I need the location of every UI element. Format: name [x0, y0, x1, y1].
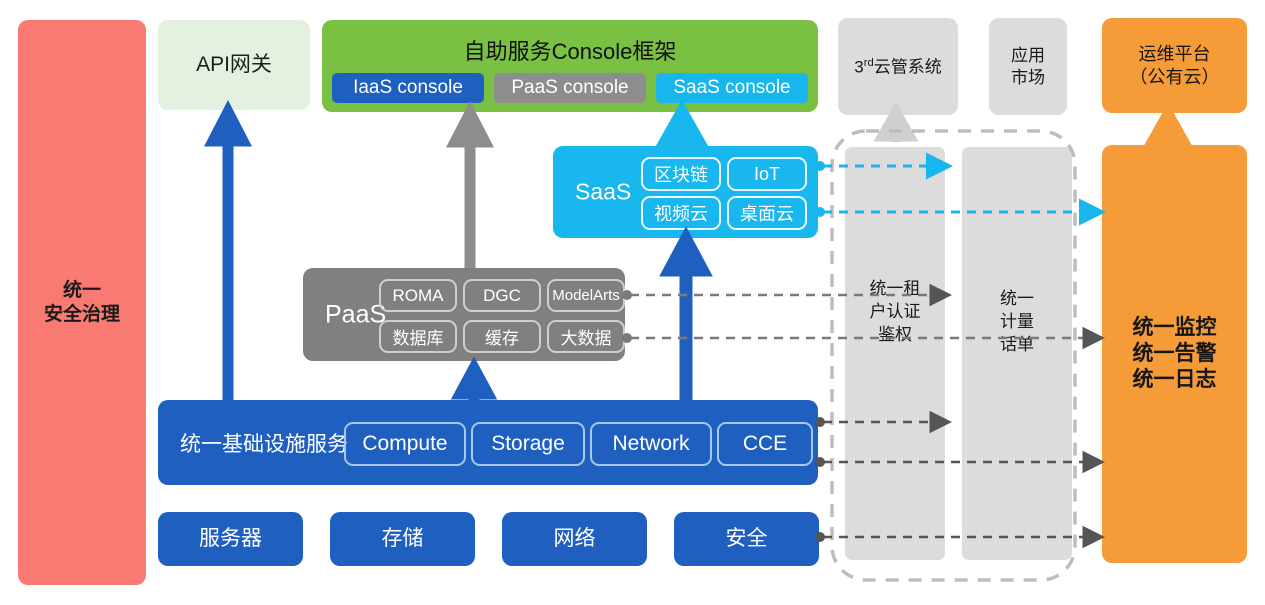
saas-layer-label: SaaS: [575, 179, 631, 206]
hardware-tile-server[interactable]: 服务器: [158, 512, 303, 566]
saas-item-blockchain[interactable]: 区块链: [641, 157, 721, 191]
hardware-tile-label: 网络: [554, 526, 596, 552]
arrow-into-ops-platform: [1154, 115, 1182, 145]
saas-item-label: IoT: [754, 164, 780, 185]
infra-item-storage[interactable]: Storage: [471, 422, 585, 466]
infra-item-network[interactable]: Network: [590, 422, 712, 466]
saas-layer: SaaS 区块链 IoT 视频云 桌面云: [553, 146, 818, 238]
hardware-tile-label: 安全: [726, 526, 768, 552]
paas-item-label: 大数据: [561, 324, 612, 349]
hardware-tile-storage[interactable]: 存储: [330, 512, 475, 566]
hardware-tile-label: 存储: [382, 526, 424, 552]
paas-layer: PaaS ROMA DGC ModelArts 数据库 缓存 大数据: [303, 268, 625, 361]
paas-item-label: 数据库: [393, 324, 444, 349]
infra-item-label: CCE: [743, 432, 787, 456]
third-party-cloud-mgmt-label: 3rd云管系统: [854, 56, 941, 78]
saas-item-label: 区块链: [654, 161, 708, 187]
saas-item-label: 视频云: [654, 200, 708, 226]
shared-service-column-auth: [845, 147, 945, 560]
paas-console-chip[interactable]: PaaS console: [494, 73, 646, 103]
saas-item-label: 桌面云: [740, 200, 794, 226]
ops-capabilities-box: 统一监控 统一告警 统一日志: [1102, 145, 1247, 563]
iaas-console-label: IaaS console: [353, 77, 463, 99]
console-frame: 自助服务Console框架 IaaS console PaaS console …: [322, 20, 818, 112]
paas-item-modelarts[interactable]: ModelArts: [547, 279, 625, 312]
paas-item-roma[interactable]: ROMA: [379, 279, 457, 312]
infra-item-compute[interactable]: Compute: [344, 422, 466, 466]
ops-capabilities-label: 统一监控 统一告警 统一日志: [1133, 315, 1217, 394]
console-frame-title: 自助服务Console框架: [322, 34, 818, 66]
infrastructure-layer-label: 统一基础设施服务: [180, 428, 348, 458]
infrastructure-layer: 统一基础设施服务 Compute Storage Network CCE: [158, 400, 818, 485]
iaas-console-chip[interactable]: IaaS console: [332, 73, 484, 103]
saas-console-chip[interactable]: SaaS console: [656, 73, 808, 103]
security-governance-label: 统一 安全治理: [44, 279, 120, 327]
shared-service-metering-label: 统一 计量 话单: [962, 288, 1072, 357]
hardware-tile-security[interactable]: 安全: [674, 512, 819, 566]
app-market-box: 应用 市场: [989, 18, 1067, 115]
api-gateway-label: API网关: [196, 52, 272, 78]
saas-item-desktop-cloud[interactable]: 桌面云: [727, 196, 807, 230]
infra-item-label: Storage: [491, 432, 565, 456]
saas-console-label: SaaS console: [673, 77, 790, 99]
infra-item-cce[interactable]: CCE: [717, 422, 813, 466]
paas-item-label: 缓存: [485, 324, 519, 349]
ops-platform-label: 运维平台 （公有云）: [1130, 43, 1220, 88]
paas-item-label: DGC: [483, 286, 521, 306]
arrow-saas-to-saas-console: [665, 112, 699, 146]
infra-item-label: Compute: [362, 432, 447, 456]
arrow-infra-to-saas: [670, 240, 702, 400]
paas-item-cache[interactable]: 缓存: [463, 320, 541, 353]
saas-item-iot[interactable]: IoT: [727, 157, 807, 191]
paas-item-label: ModelArts: [552, 287, 620, 304]
arrow-paas-to-console: [455, 113, 485, 268]
infra-item-label: Network: [612, 432, 689, 456]
arrow-into-third-party-cloud-mgmt: [883, 113, 909, 142]
architecture-diagram: 统一 安全治理 API网关 自助服务Console框架 IaaS console…: [0, 0, 1265, 605]
shared-service-auth-label: 统一租 户认证 鉴权: [845, 278, 945, 347]
ops-platform-box: 运维平台 （公有云）: [1102, 18, 1247, 113]
paas-item-label: ROMA: [393, 286, 444, 306]
app-market-label: 应用 市场: [1011, 45, 1045, 88]
saas-item-video-cloud[interactable]: 视频云: [641, 196, 721, 230]
third-party-cloud-mgmt-box: 3rd云管系统: [838, 18, 958, 115]
paas-console-label: PaaS console: [511, 77, 628, 99]
paas-item-dgc[interactable]: DGC: [463, 279, 541, 312]
security-governance-panel: 统一 安全治理: [18, 20, 146, 585]
paas-layer-label: PaaS: [325, 300, 386, 329]
arrow-infra-to-api-gateway: [213, 112, 243, 400]
api-gateway-box: API网关: [158, 20, 310, 110]
hardware-tile-label: 服务器: [199, 526, 262, 552]
arrow-infra-to-paas: [460, 368, 488, 400]
paas-item-bigdata[interactable]: 大数据: [547, 320, 625, 353]
paas-item-database[interactable]: 数据库: [379, 320, 457, 353]
hardware-tile-network[interactable]: 网络: [502, 512, 647, 566]
